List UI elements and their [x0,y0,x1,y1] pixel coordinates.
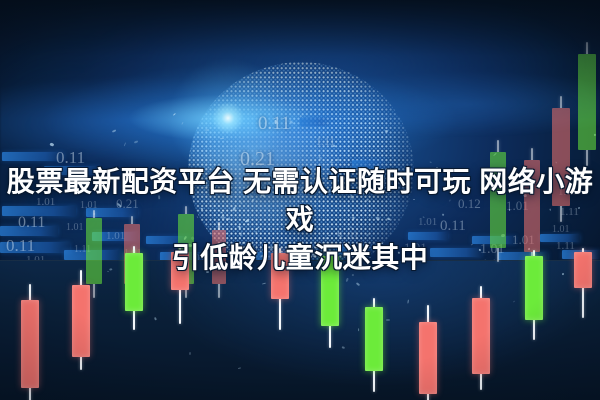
news-banner-image: 0.111.011.010.111.010.111.111.010.211.01… [0,0,600,400]
vignette-overlay [0,0,600,400]
